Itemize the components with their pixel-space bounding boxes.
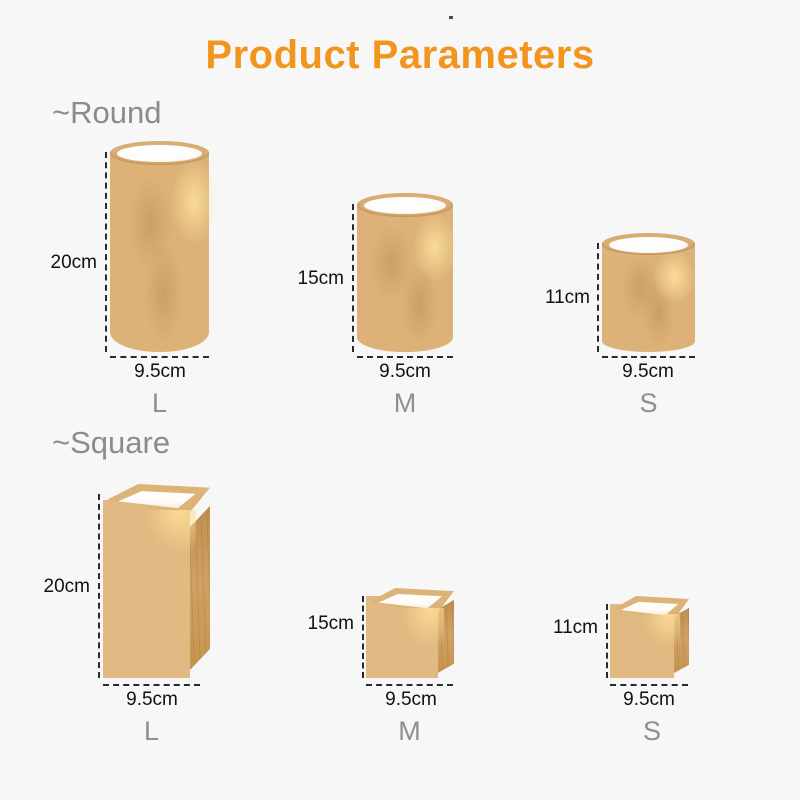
width-guide-line	[610, 684, 688, 686]
height-label: 15cm	[282, 613, 354, 635]
square-lamp-large	[103, 484, 210, 678]
wood-grain	[401, 263, 437, 346]
size-letter-square-s: S	[605, 716, 699, 747]
height-guide-line	[105, 152, 107, 352]
wood-grain	[144, 242, 184, 346]
light-diffuser	[117, 145, 202, 162]
height-label: 11cm	[526, 617, 598, 639]
height-guide-line	[597, 243, 599, 352]
square-lamp-medium	[366, 588, 454, 678]
width-guide-line	[357, 356, 453, 358]
box-front-face	[103, 500, 190, 678]
product-parameters-page: Product Parameters ~Round 20cm 9.5cm L 1…	[0, 0, 800, 800]
size-letter-round-s: S	[600, 388, 697, 419]
size-letter-round-l: L	[110, 388, 209, 419]
height-guide-line	[362, 596, 364, 678]
width-label: 9.5cm	[588, 361, 708, 383]
width-label: 9.5cm	[100, 361, 220, 383]
section-label-round: ~Round	[52, 95, 161, 131]
box-side-face	[188, 506, 210, 672]
height-label: 15cm	[272, 268, 344, 290]
width-label: 9.5cm	[351, 689, 471, 711]
size-letter-square-l: L	[102, 716, 201, 747]
cylinder-body	[602, 243, 695, 352]
cylinder-body	[110, 152, 209, 352]
height-guide-line	[98, 494, 100, 678]
height-guide-line	[606, 604, 608, 678]
round-lamp-medium	[357, 204, 453, 352]
light-diffuser	[364, 197, 446, 214]
light-diffuser	[609, 237, 688, 253]
width-guide-line	[602, 356, 695, 358]
size-letter-square-m: M	[362, 716, 457, 747]
width-label: 9.5cm	[589, 689, 709, 711]
height-label: 11cm	[518, 287, 590, 309]
width-guide-line	[103, 684, 200, 686]
image-artifact-speck	[449, 16, 453, 19]
square-lamp-small	[610, 596, 689, 678]
round-lamp-large	[110, 152, 209, 352]
section-label-square: ~Square	[52, 425, 170, 461]
size-letter-round-m: M	[356, 388, 454, 419]
width-label: 9.5cm	[345, 361, 465, 383]
box-side-face	[436, 600, 454, 674]
height-guide-line	[352, 204, 354, 352]
height-label: 20cm	[18, 576, 90, 598]
page-title: Product Parameters	[0, 33, 800, 78]
height-label: 20cm	[25, 252, 97, 274]
cylinder-body	[357, 204, 453, 352]
width-guide-line	[366, 684, 453, 686]
wood-grain	[643, 278, 675, 348]
round-lamp-small	[602, 243, 695, 352]
width-label: 9.5cm	[92, 689, 212, 711]
width-guide-line	[110, 356, 209, 358]
